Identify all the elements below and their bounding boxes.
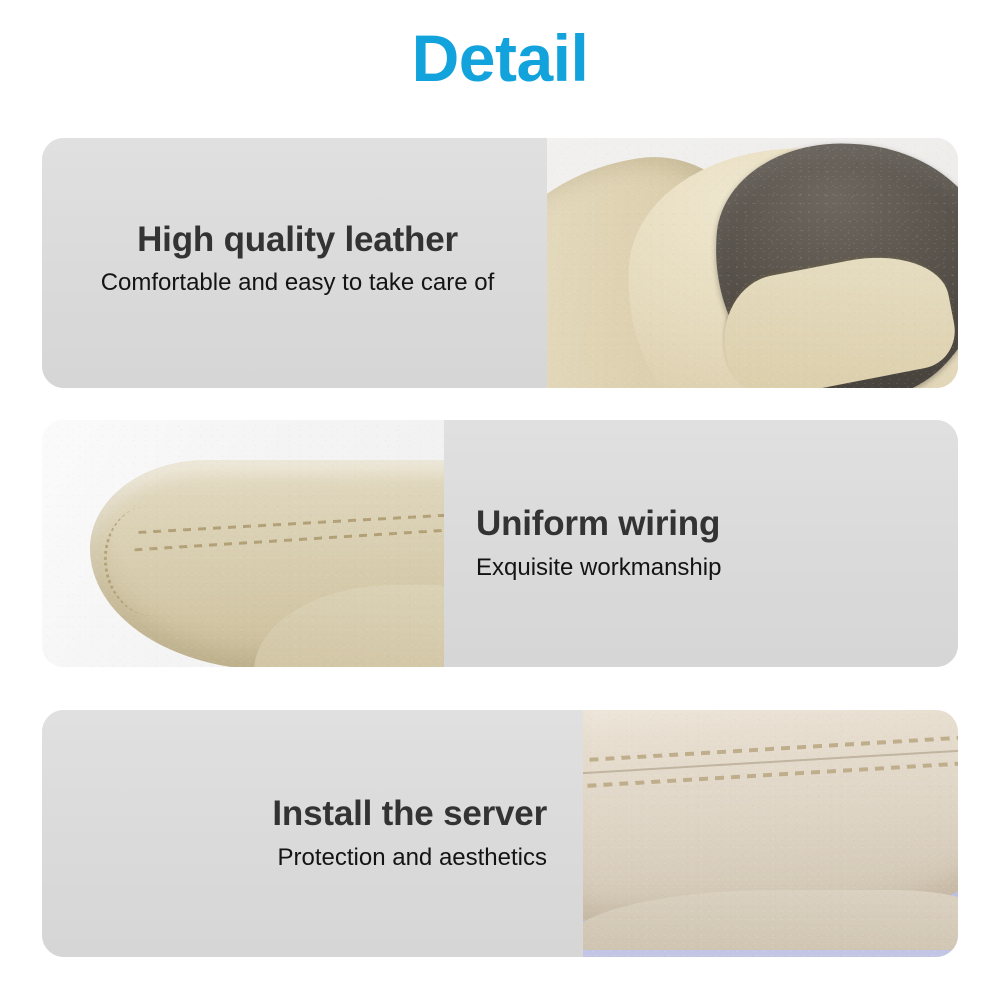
card-3-heading: Install the server — [272, 794, 547, 834]
page-title: Detail — [0, 22, 1000, 95]
card-1-subtitle: Comfortable and easy to take care of — [101, 269, 495, 298]
detail-card-install-the-server: Install the server Protection and aesthe… — [42, 710, 958, 957]
detail-card-uniform-wiring: Uniform wiring Exquisite workmanship — [42, 420, 958, 667]
card-1-photo — [547, 138, 958, 388]
card-1-text-pane: High quality leather Comfortable and eas… — [42, 138, 547, 388]
card-3-subtitle: Protection and aesthetics — [278, 844, 548, 873]
detail-card-high-quality-leather: High quality leather Comfortable and eas… — [42, 138, 958, 388]
card-2-heading: Uniform wiring — [476, 504, 720, 544]
card-2-photo — [42, 420, 444, 667]
card-1-heading: High quality leather — [137, 220, 458, 260]
card-3-text-pane: Install the server Protection and aesthe… — [42, 710, 583, 957]
card-2-subtitle: Exquisite workmanship — [476, 554, 721, 583]
card-3-photo — [583, 710, 958, 957]
card-2-text-pane: Uniform wiring Exquisite workmanship — [444, 420, 958, 667]
